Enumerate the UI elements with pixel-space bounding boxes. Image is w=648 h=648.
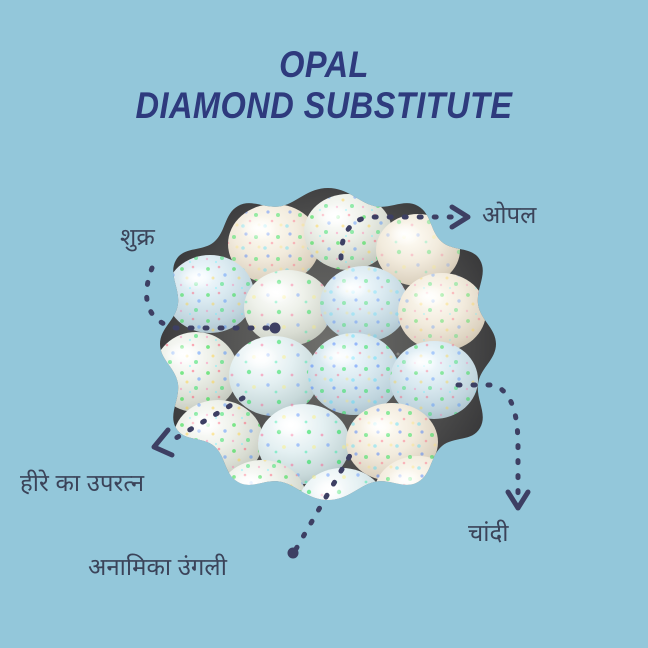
infographic-canvas: OPAL DIAMOND SUBSTITUTE — [0, 0, 648, 648]
callout-label-shukra: शुक्र — [120, 222, 155, 253]
opal-cluster-image — [152, 186, 504, 538]
title-line-opal: OPAL — [39, 44, 609, 85]
callout-label-chandi: चांदी — [468, 518, 508, 549]
title-line-diamond-substitute: DIAMOND SUBSTITUTE — [39, 85, 609, 126]
callout-label-opal: ओपल — [482, 200, 536, 231]
endpoint-dot-anamika — [288, 548, 299, 559]
page-title: OPAL DIAMOND SUBSTITUTE — [0, 44, 648, 127]
callout-label-anamika-ungali: अनामिका उंगली — [88, 552, 227, 583]
arrowhead-chandi — [508, 492, 528, 508]
callout-label-heera-ka-uparatna: हीरे का उपरत्न — [20, 468, 144, 499]
